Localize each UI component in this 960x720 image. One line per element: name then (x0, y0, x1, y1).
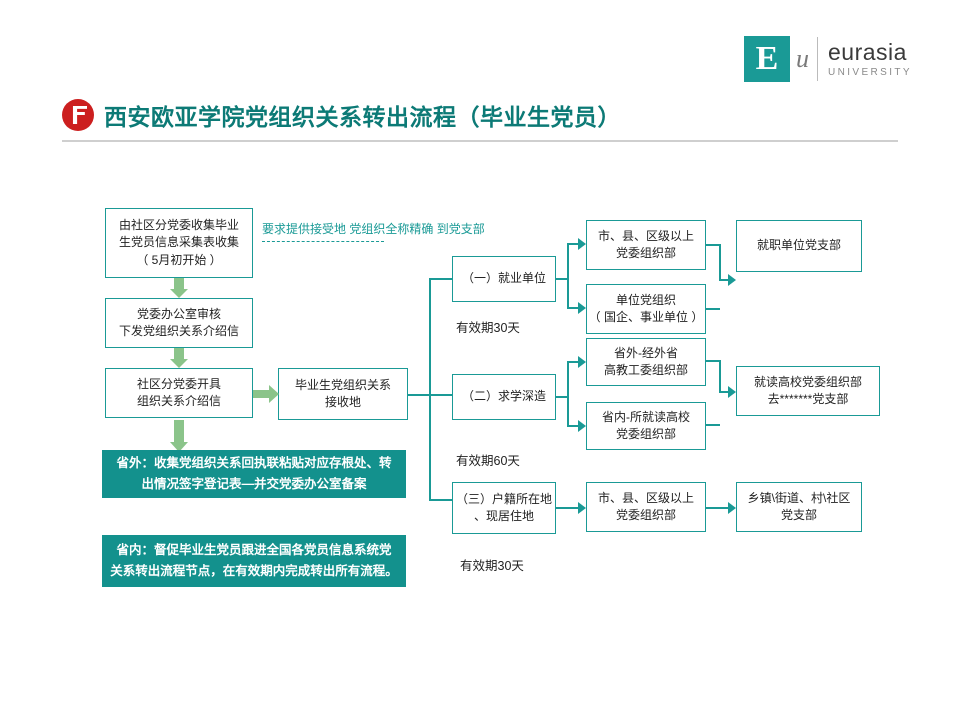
branch-residence-label: （三）户籍所在地 、现居住地 (452, 482, 556, 534)
arrow-residence-to-mid (556, 499, 586, 517)
note-dashed-rule (262, 241, 384, 242)
line: 、现居住地 (474, 508, 534, 525)
line: （ 5月初开始 ） (136, 252, 221, 269)
line: 关系转出流程节点，在有效期内完成转出所有流程。 (110, 561, 398, 582)
line: 由社区分党委收集毕业 (119, 217, 239, 234)
community-issue-letter-box: 社区分党委开具 组织关系介绍信 (105, 368, 253, 418)
in-province-banner: 省内：督促毕业生党员跟进全国各党员信息系统党 关系转出流程节点，在有效期内完成转… (102, 535, 406, 587)
line: 党委组织部 (616, 245, 676, 262)
branch-further-study-caption: 有效期60天 (456, 450, 520, 469)
out-of-province-banner: 省外：收集党组织关系回执联粘贴对应存根处、转 出情况签字登记表—并交党委办公室备… (102, 450, 406, 498)
line: 去*******党支部 (768, 391, 849, 408)
title-divider (62, 140, 898, 142)
end-college-party-branch-box: 就读高校党委组织部 去*******党支部 (736, 366, 880, 416)
slide-canvas: E u eurasia UNIVERSITY 西安欧亚学院党组织关系转出流程（毕… (0, 0, 960, 720)
arrow-residence-to-end (706, 499, 736, 517)
page-title-text: 西安欧亚学院党组织关系转出流程（毕业生党员） (104, 98, 621, 132)
line: （三）户籍所在地 (456, 491, 552, 508)
graduate-relation-receiver-box: 毕业生党组织关系 接收地 (278, 368, 408, 420)
page-title: 西安欧亚学院党组织关系转出流程（毕业生党员） (62, 98, 621, 132)
requirement-note: 要求提供接受地 党组织全称精确 到党支部 (262, 220, 485, 242)
mid-in-province-college-box: 省内-所就读高校 党委组织部 (586, 402, 706, 450)
community-collect-box: 由社区分党委收集毕业 生党员信息采集表收集 （ 5月初开始 ） (105, 208, 253, 278)
end-township-community-branch-box: 乡镇\街道、村\社区 党支部 (736, 482, 862, 532)
line: （一）就业单位 (462, 270, 546, 287)
line: 党委组织部 (616, 507, 676, 524)
party-office-review-box: 党委办公室审核 下发党组织关系介绍信 (105, 298, 253, 348)
line: 党组织全称精确 (349, 222, 433, 236)
arrow-employment-split (556, 222, 586, 332)
line: 生党员信息采集表收集 (119, 234, 239, 251)
line: 组织关系介绍信 (137, 393, 221, 410)
line: 省内-所就读高校 (602, 409, 690, 426)
line: 党委组织部 (616, 426, 676, 443)
line: 就职单位党支部 (757, 237, 841, 254)
eurasia-logo: E u eurasia UNIVERSITY (744, 36, 912, 82)
line: 出情况签字登记表—并交党委办公室备案 (141, 474, 366, 495)
line: 要求提供接受地 (262, 222, 346, 236)
line: （二）求学深造 (462, 388, 546, 405)
line: 高教工委组织部 (604, 362, 688, 379)
line: 接收地 (325, 394, 361, 411)
line: 省外-经外省 (614, 345, 678, 362)
arrow-study-split (556, 338, 586, 458)
mid-city-county-district-box: 市、县、区级以上 党委组织部 (586, 220, 706, 270)
branch-residence-caption: 有效期30天 (460, 555, 524, 574)
line: 党委办公室审核 (137, 306, 221, 323)
logo-letter: E (756, 42, 779, 76)
logo-divider (817, 37, 818, 81)
line: 毕业生党组织关系 (295, 377, 391, 394)
arrow-issue-to-banner (170, 420, 188, 452)
logo-mark-icon: E (744, 36, 790, 82)
arrow-issue-to-receiver (253, 385, 279, 403)
arrow-review-to-issue (170, 348, 188, 368)
branch-employment-label: （一）就业单位 (452, 256, 556, 302)
line: 省内：督促毕业生党员跟进全国各党员信息系统党 (116, 540, 391, 561)
line: 就读高校党委组织部 (754, 374, 862, 391)
branch-further-study-label: （二）求学深造 (452, 374, 556, 420)
end-employer-branch-box: 就职单位党支部 (736, 220, 862, 272)
arrow-study-merge (706, 352, 736, 432)
logo-u-letter: u (796, 44, 809, 74)
arrow-employment-merge (706, 236, 736, 316)
line: （ 国企、事业单位 ） (589, 309, 704, 326)
branch-employment-caption: 有效期30天 (456, 317, 520, 336)
line: 单位党组织 (616, 292, 676, 309)
mid-out-province-education-box: 省外-经外省 高教工委组织部 (586, 338, 706, 386)
logo-subtitle: UNIVERSITY (828, 68, 912, 78)
line: 社区分党委开具 (137, 376, 221, 393)
party-emblem-icon (62, 99, 94, 131)
mid-city-county-district-2-box: 市、县、区级以上 党委组织部 (586, 482, 706, 532)
line: 省外：收集党组织关系回执联粘贴对应存根处、转 (116, 453, 391, 474)
mid-unit-party-org-box: 单位党组织 （ 国企、事业单位 ） (586, 284, 706, 334)
logo-wordmark: eurasia UNIVERSITY (828, 41, 912, 78)
line: 下发党组织关系介绍信 (119, 323, 239, 340)
line: 党支部 (781, 507, 817, 524)
arrow-collect-to-review (170, 278, 188, 298)
line: 市、县、区级以上 (598, 228, 694, 245)
line: 市、县、区级以上 (598, 490, 694, 507)
line: 乡镇\街道、村\社区 (748, 490, 851, 507)
line: 到党支部 (437, 222, 485, 236)
logo-name: eurasia (828, 41, 912, 64)
